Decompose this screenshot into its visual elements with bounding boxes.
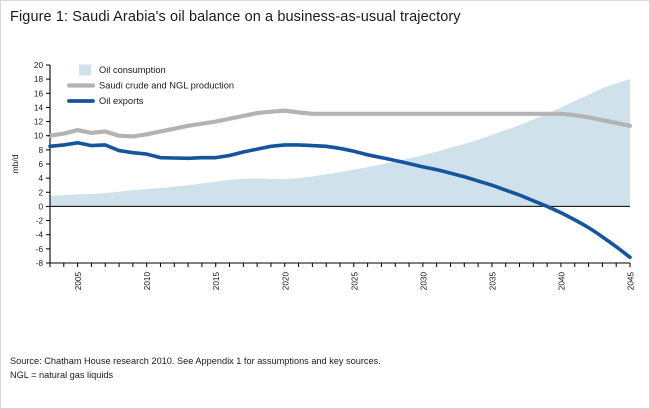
legend-label: Oil consumption (99, 65, 166, 75)
source-note: Source: Chatham House research 2010. See… (10, 354, 381, 368)
y-tick-label: 4 (38, 174, 43, 183)
x-axis-ticks: 200520102015202020252030203520402045 (50, 263, 636, 290)
oil-balance-chart: -8-6-4-202468101214161820 20052010201520… (1, 51, 650, 346)
y-tick-label: 20 (34, 61, 44, 70)
y-axis-title-label: mb/d (10, 154, 20, 173)
y-tick-label: 14 (34, 103, 44, 112)
y-tick-label: -4 (36, 231, 44, 240)
y-tick-label: 0 (38, 202, 43, 211)
x-tick-label: 2045 (627, 272, 636, 291)
chart-legend: Oil consumptionSaudi crude and NGL produ… (69, 65, 234, 106)
x-tick-label: 2015 (212, 272, 221, 291)
y-tick-label: 12 (34, 118, 44, 127)
legend-label: Oil exports (99, 96, 144, 106)
x-tick-label: 2030 (419, 272, 428, 291)
y-tick-label: -8 (36, 259, 44, 268)
y-tick-label: -2 (36, 217, 44, 226)
y-tick-label: 18 (34, 75, 44, 84)
x-tick-label: 2025 (350, 272, 359, 291)
y-axis-ticks: -8-6-4-202468101214161820 (34, 61, 50, 268)
y-tick-label: 16 (34, 89, 44, 98)
x-tick-label: 2005 (74, 272, 83, 291)
y-axis-title: mb/d (10, 154, 20, 173)
y-tick-label: -6 (36, 245, 44, 254)
footnotes: Source: Chatham House research 2010. See… (10, 354, 381, 382)
chart-plot-area: -8-6-4-202468101214161820 20052010201520… (1, 51, 650, 346)
x-tick-label: 2010 (143, 272, 152, 291)
y-tick-label: 10 (34, 132, 44, 141)
x-tick-label: 2040 (557, 272, 566, 291)
figure-container: Figure 1: Saudi Arabia's oil balance on … (0, 0, 650, 409)
exports-line-historical (50, 143, 326, 159)
y-tick-label: 6 (38, 160, 43, 169)
y-tick-label: 8 (38, 146, 43, 155)
ngl-note: NGL = natural gas liquids (10, 368, 381, 382)
y-tick-label: 2 (38, 188, 43, 197)
page-title: Figure 1: Saudi Arabia's oil balance on … (10, 9, 461, 25)
x-tick-label: 2035 (488, 272, 497, 291)
legend-swatch-consumption (79, 65, 91, 76)
legend-label: Saudi crude and NGL production (99, 80, 234, 90)
x-tick-label: 2020 (281, 272, 290, 291)
